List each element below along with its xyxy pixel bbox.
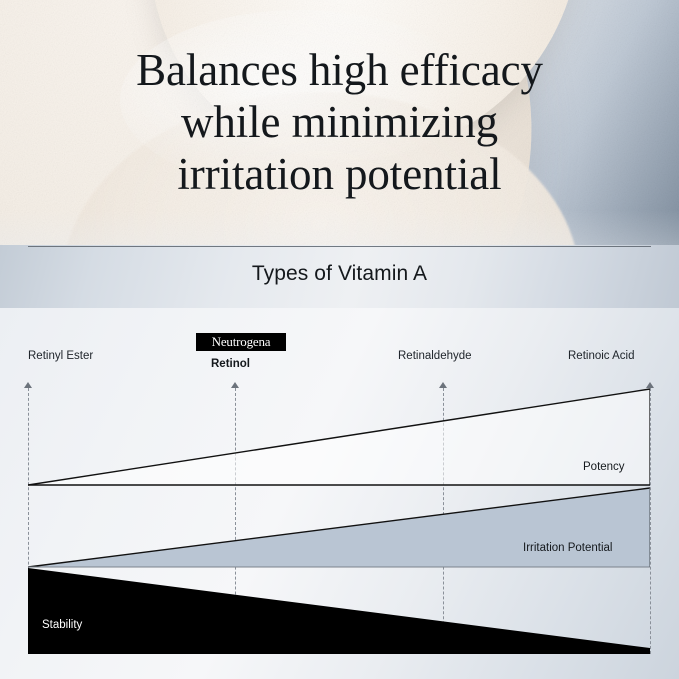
- legend-label-irritation-potential: Irritation Potential: [523, 542, 613, 554]
- series-stability-area: [28, 568, 650, 654]
- axis-label-retinyl-ester: Retinyl Ester: [28, 350, 93, 362]
- marketing-infographic: Balances high efficacy while minimizing …: [0, 0, 679, 679]
- neutrogena-logo: Neutrogena: [196, 333, 286, 351]
- axis-label-retinaldehyde: Retinaldehyde: [398, 350, 472, 362]
- wedge-svg: [28, 378, 650, 654]
- page-title: Balances high efficacy while minimizing …: [0, 44, 679, 200]
- vitamin-a-chart: Retinyl Ester Neutrogena Retinol Retinal…: [0, 308, 679, 679]
- axis-label-retinoic-acid: Retinoic Acid: [568, 350, 634, 362]
- tick-line-retinoic-acid: [650, 388, 651, 654]
- axis-label-retinol: Retinol: [211, 358, 250, 370]
- legend-label-stability: Stability: [42, 619, 82, 631]
- legend-label-potency: Potency: [583, 461, 625, 473]
- section-title: Types of Vitamin A: [0, 262, 679, 286]
- divider-rule-top: [28, 246, 651, 247]
- plot-wedges: [28, 378, 650, 654]
